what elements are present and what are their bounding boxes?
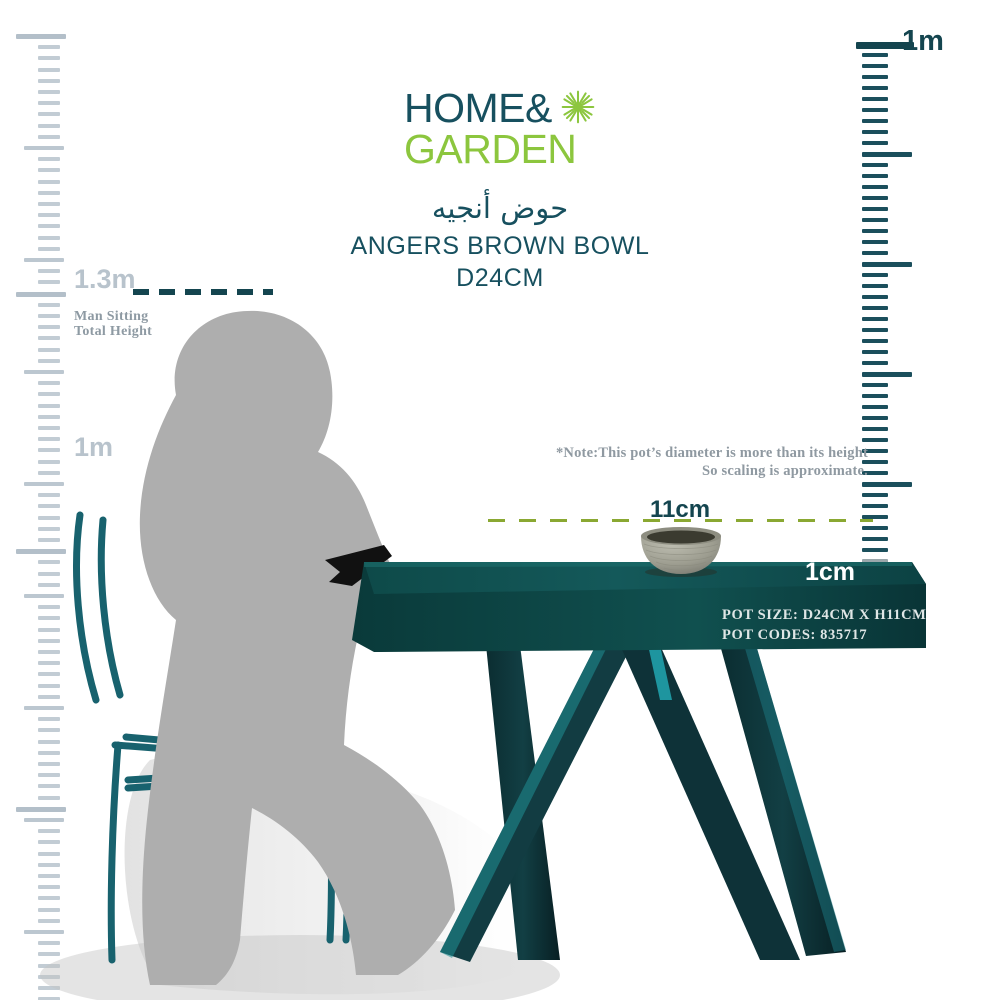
ruler-tick <box>38 426 60 430</box>
phone-in-hand <box>325 545 392 586</box>
ruler-tick <box>38 538 60 542</box>
ruler-tick <box>24 146 64 150</box>
ruler-tick <box>862 306 888 310</box>
ruler-tick <box>862 427 888 431</box>
ruler-tick <box>38 45 60 49</box>
label-man-sitting-line1: Man Sitting <box>74 309 152 324</box>
ruler-tick <box>38 874 60 878</box>
ruler-tick <box>24 482 64 486</box>
ruler-tick <box>38 404 60 408</box>
ruler-tick <box>38 336 60 340</box>
ruler-tick <box>38 773 60 777</box>
ruler-tick <box>38 392 60 396</box>
ruler-tick <box>38 527 60 531</box>
ruler-tick <box>862 581 888 585</box>
ruler-tick <box>862 537 888 541</box>
ruler-tick <box>862 405 888 409</box>
ruler-tick <box>24 930 64 934</box>
ruler-tick <box>38 650 60 654</box>
ruler-tick <box>38 157 60 161</box>
pot-size-text: POT SIZE: D24CM X H11CM <box>722 605 926 625</box>
ruler-tick <box>862 592 888 596</box>
ruler-tick <box>38 784 60 788</box>
ruler-tick <box>38 448 60 452</box>
ruler-tick <box>38 616 60 620</box>
ruler-tick <box>38 56 60 60</box>
ruler-tick <box>38 359 60 363</box>
ruler-tick <box>38 348 60 352</box>
ruler-tick <box>38 751 60 755</box>
ruler-tick <box>38 560 60 564</box>
ruler-tick <box>24 818 64 822</box>
product-title-arabic: حوض أنجيه <box>0 190 1000 226</box>
ruler-tick <box>38 124 60 128</box>
ruler-tick <box>38 695 60 699</box>
ruler-tick <box>38 415 60 419</box>
ruler-tick <box>38 68 60 72</box>
ruler-tick <box>38 919 60 923</box>
ruler-tick <box>862 64 888 68</box>
label-pot-height-11cm: 11cm <box>650 496 710 524</box>
ruler-tick <box>862 53 888 57</box>
ruler-tick <box>38 504 60 508</box>
ruler-tick <box>38 672 60 676</box>
ruler-tick <box>38 381 60 385</box>
angers-brown-bowl <box>635 524 727 578</box>
ruler-tick <box>862 504 888 508</box>
pot-codes-text: POT CODES: 835717 <box>722 625 926 645</box>
ruler-tick <box>38 79 60 83</box>
ruler-tick <box>38 303 60 307</box>
ruler-tick <box>862 163 888 167</box>
ruler-tick <box>862 493 888 497</box>
ruler-tick <box>862 328 888 332</box>
ruler-tick <box>16 34 66 39</box>
ruler-tick <box>38 493 60 497</box>
ruler-tick <box>38 572 60 576</box>
ruler-tick <box>862 185 888 189</box>
ruler-tick <box>862 295 888 299</box>
ruler-tick <box>38 180 60 184</box>
scaling-note-line1: *Note:This pot’s diameter is more than i… <box>468 444 868 462</box>
ruler-tick <box>38 583 60 587</box>
scaling-note-line2: So scaling is approximate. <box>468 462 868 480</box>
ruler-tick <box>862 482 912 487</box>
ruler-tick <box>862 174 888 178</box>
ruler-tick <box>38 740 60 744</box>
label-man-sitting-total-height: Man Sitting Total Height <box>74 309 152 339</box>
ruler-tick <box>862 361 888 365</box>
ruler-tick <box>862 559 888 563</box>
ruler-tick <box>38 605 60 609</box>
ruler-tick <box>38 168 60 172</box>
ruler-tick <box>16 807 66 812</box>
ruler-tick <box>38 112 60 116</box>
ruler-tick <box>38 941 60 945</box>
ruler-tick <box>862 570 888 574</box>
ruler-tick <box>38 460 60 464</box>
ruler-tick <box>24 370 64 374</box>
ruler-tick <box>862 339 888 343</box>
ruler-tick <box>38 728 60 732</box>
ruler-tick <box>38 639 60 643</box>
label-1m-right: 1m <box>902 25 944 58</box>
ruler-tick <box>862 86 888 90</box>
ruler-tick <box>38 762 60 766</box>
ruler-tick <box>38 90 60 94</box>
ruler-tick <box>16 549 66 554</box>
label-1m-left: 1m <box>74 432 113 463</box>
ruler-tick <box>38 829 60 833</box>
ruler-tick <box>38 896 60 900</box>
product-title-block: حوض أنجيه ANGERS BROWN BOWL D24CM <box>0 190 1000 294</box>
ruler-tick <box>862 108 888 112</box>
label-1cm: 1cm <box>805 558 855 587</box>
right-ruler <box>856 0 916 1000</box>
pot-info-block: POT SIZE: D24CM X H11CM POT CODES: 83571… <box>722 605 926 645</box>
ruler-tick <box>862 152 912 157</box>
ruler-tick <box>862 394 888 398</box>
ruler-tick <box>862 383 888 387</box>
ruler-tick <box>38 796 60 800</box>
ruler-tick <box>862 526 888 530</box>
ruler-tick <box>38 952 60 956</box>
sunburst-icon <box>561 90 595 124</box>
ruler-tick <box>862 350 888 354</box>
ruler-tick <box>862 438 888 442</box>
ruler-tick <box>38 840 60 844</box>
ruler-tick <box>38 101 60 105</box>
ruler-tick <box>38 975 60 979</box>
ruler-tick <box>38 863 60 867</box>
product-size-code: D24CM <box>0 262 1000 294</box>
ruler-tick <box>862 416 888 420</box>
ruler-tick <box>38 516 60 520</box>
ruler-tick <box>862 548 888 552</box>
ruler-tick <box>24 594 64 598</box>
ruler-tick <box>862 119 888 123</box>
ruler-tick <box>38 986 60 990</box>
ruler-tick <box>862 130 888 134</box>
product-title-english: ANGERS BROWN BOWL <box>0 230 1000 262</box>
ruler-tick <box>24 706 64 710</box>
brand-logo-line2: GARDEN <box>404 128 594 170</box>
label-1-3m: 1.3m <box>74 264 136 295</box>
ruler-tick <box>38 471 60 475</box>
label-man-sitting-line2: Total Height <box>74 324 152 339</box>
scale-diagram-canvas: HOME& GARDEN <box>0 0 1000 1000</box>
ruler-tick <box>862 372 912 377</box>
ruler-tick <box>38 717 60 721</box>
ruler-tick <box>38 661 60 665</box>
ruler-tick <box>38 885 60 889</box>
ruler-tick <box>38 684 60 688</box>
ruler-tick <box>862 75 888 79</box>
ruler-tick <box>38 135 60 139</box>
ruler-tick <box>862 317 888 321</box>
ruler-tick <box>38 314 60 318</box>
ruler-tick <box>38 628 60 632</box>
scaling-note: *Note:This pot’s diameter is more than i… <box>468 444 868 480</box>
left-ruler <box>24 0 84 1000</box>
ruler-tick <box>38 325 60 329</box>
ruler-tick <box>862 97 888 101</box>
ruler-tick <box>862 141 888 145</box>
ruler-tick <box>38 908 60 912</box>
ruler-tick <box>38 964 60 968</box>
ruler-tick <box>38 437 60 441</box>
ruler-tick <box>38 852 60 856</box>
brand-logo: HOME& GARDEN <box>404 88 594 170</box>
